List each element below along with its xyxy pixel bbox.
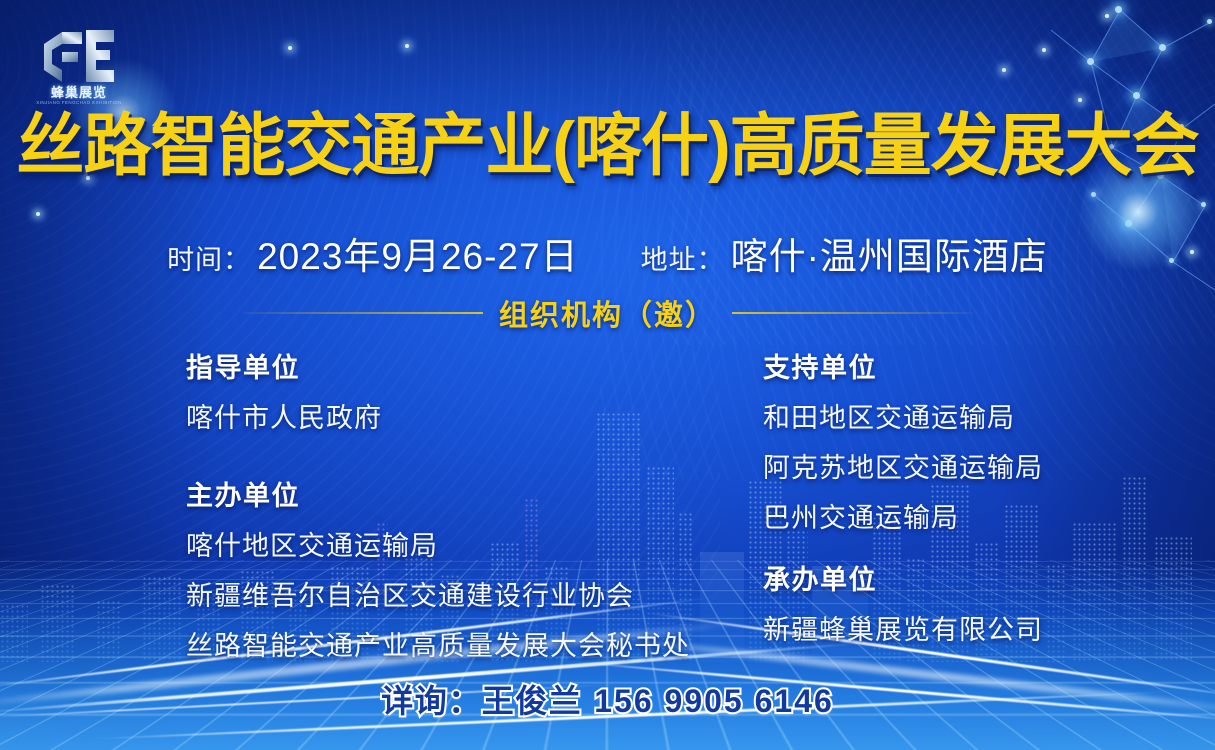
org-heading: 主办单位 bbox=[186, 474, 300, 513]
network-node bbox=[1087, 58, 1094, 65]
time-label: 时间： bbox=[167, 238, 251, 277]
org-item: 喀什市人民政府 bbox=[186, 396, 382, 435]
network-node bbox=[1201, 202, 1206, 207]
sparkle-dot bbox=[405, 44, 409, 48]
sparkle-dot bbox=[1002, 68, 1006, 72]
org-heading: 支持单位 bbox=[763, 346, 877, 385]
conference-poster: 蜂巢展览 XINJIANG FENGCHAO EXHIBITION 丝路智能交通… bbox=[0, 0, 1215, 750]
sparkle-dot bbox=[288, 46, 292, 50]
org-heading: 承办单位 bbox=[763, 558, 877, 597]
section-title: 组织机构（邀） bbox=[499, 292, 716, 334]
org-item: 新疆蜂巢展览有限公司 bbox=[763, 608, 1043, 647]
event-time: 时间： 2023年9月26-27日 bbox=[167, 226, 579, 280]
network-node bbox=[1159, 44, 1166, 51]
org-item: 巴州交通运输局 bbox=[763, 496, 959, 535]
address-label: 地址： bbox=[641, 238, 725, 277]
contact-name: 王俊兰 bbox=[482, 683, 583, 719]
sparkle-dot bbox=[1105, 14, 1109, 18]
org-item: 新疆维吾尔自治区交通建设行业协会 bbox=[186, 574, 634, 613]
address-value: 喀什·温州国际酒店 bbox=[731, 226, 1048, 280]
network-node bbox=[1091, 192, 1096, 197]
logo-subtitle: XINJIANG FENGCHAO EXHIBITION bbox=[26, 100, 132, 105]
contact-label: 详询： bbox=[381, 683, 482, 719]
event-address: 地址： 喀什·温州国际酒店 bbox=[641, 226, 1048, 280]
contact-line: 详询：王俊兰156 9905 6146 bbox=[0, 676, 1215, 722]
organizations-columns: 指导单位 喀什市人民政府 主办单位 喀什地区交通运输局 新疆维吾尔自治区交通建设… bbox=[0, 340, 1215, 650]
sparkle-dot bbox=[36, 212, 40, 216]
organizer-logo: 蜂巢展览 XINJIANG FENGCHAO EXHIBITION bbox=[26, 24, 132, 116]
organizations-right-column: 支持单位 和田地区交通运输局 阿克苏地区交通运输局 巴州交通运输局 承办单位 新… bbox=[763, 340, 1043, 652]
divider-line-right bbox=[732, 312, 972, 314]
contact-phone: 156 9905 6146 bbox=[594, 683, 834, 719]
sparkle-dot bbox=[1042, 48, 1046, 52]
time-value: 2023年9月26-27日 bbox=[257, 226, 579, 280]
org-item: 和田地区交通运输局 bbox=[763, 396, 1015, 435]
event-meta-row: 时间： 2023年9月26-27日 地址： 喀什·温州国际酒店 bbox=[0, 226, 1215, 280]
org-item: 阿克苏地区交通运输局 bbox=[763, 446, 1043, 485]
network-node bbox=[1115, 6, 1122, 13]
sparkle-dot bbox=[1078, 98, 1082, 102]
organizations-section-header: 组织机构（邀） bbox=[0, 292, 1215, 334]
org-item: 丝路智能交通产业高质量发展大会秘书处 bbox=[186, 624, 690, 663]
divider-line-left bbox=[243, 312, 483, 314]
hexagon-cube-logo-icon bbox=[38, 24, 120, 86]
network-node bbox=[1207, 19, 1212, 24]
organizations-left-column: 指导单位 喀什市人民政府 主办单位 喀什地区交通运输局 新疆维吾尔自治区交通建设… bbox=[186, 340, 690, 668]
org-item: 喀什地区交通运输局 bbox=[186, 524, 438, 563]
logo-name: 蜂巢展览 bbox=[26, 82, 132, 101]
org-heading: 指导单位 bbox=[186, 346, 300, 385]
poster-title: 丝路智能交通产业(喀什)高质量发展大会 bbox=[0, 110, 1215, 182]
network-node bbox=[1133, 92, 1140, 99]
